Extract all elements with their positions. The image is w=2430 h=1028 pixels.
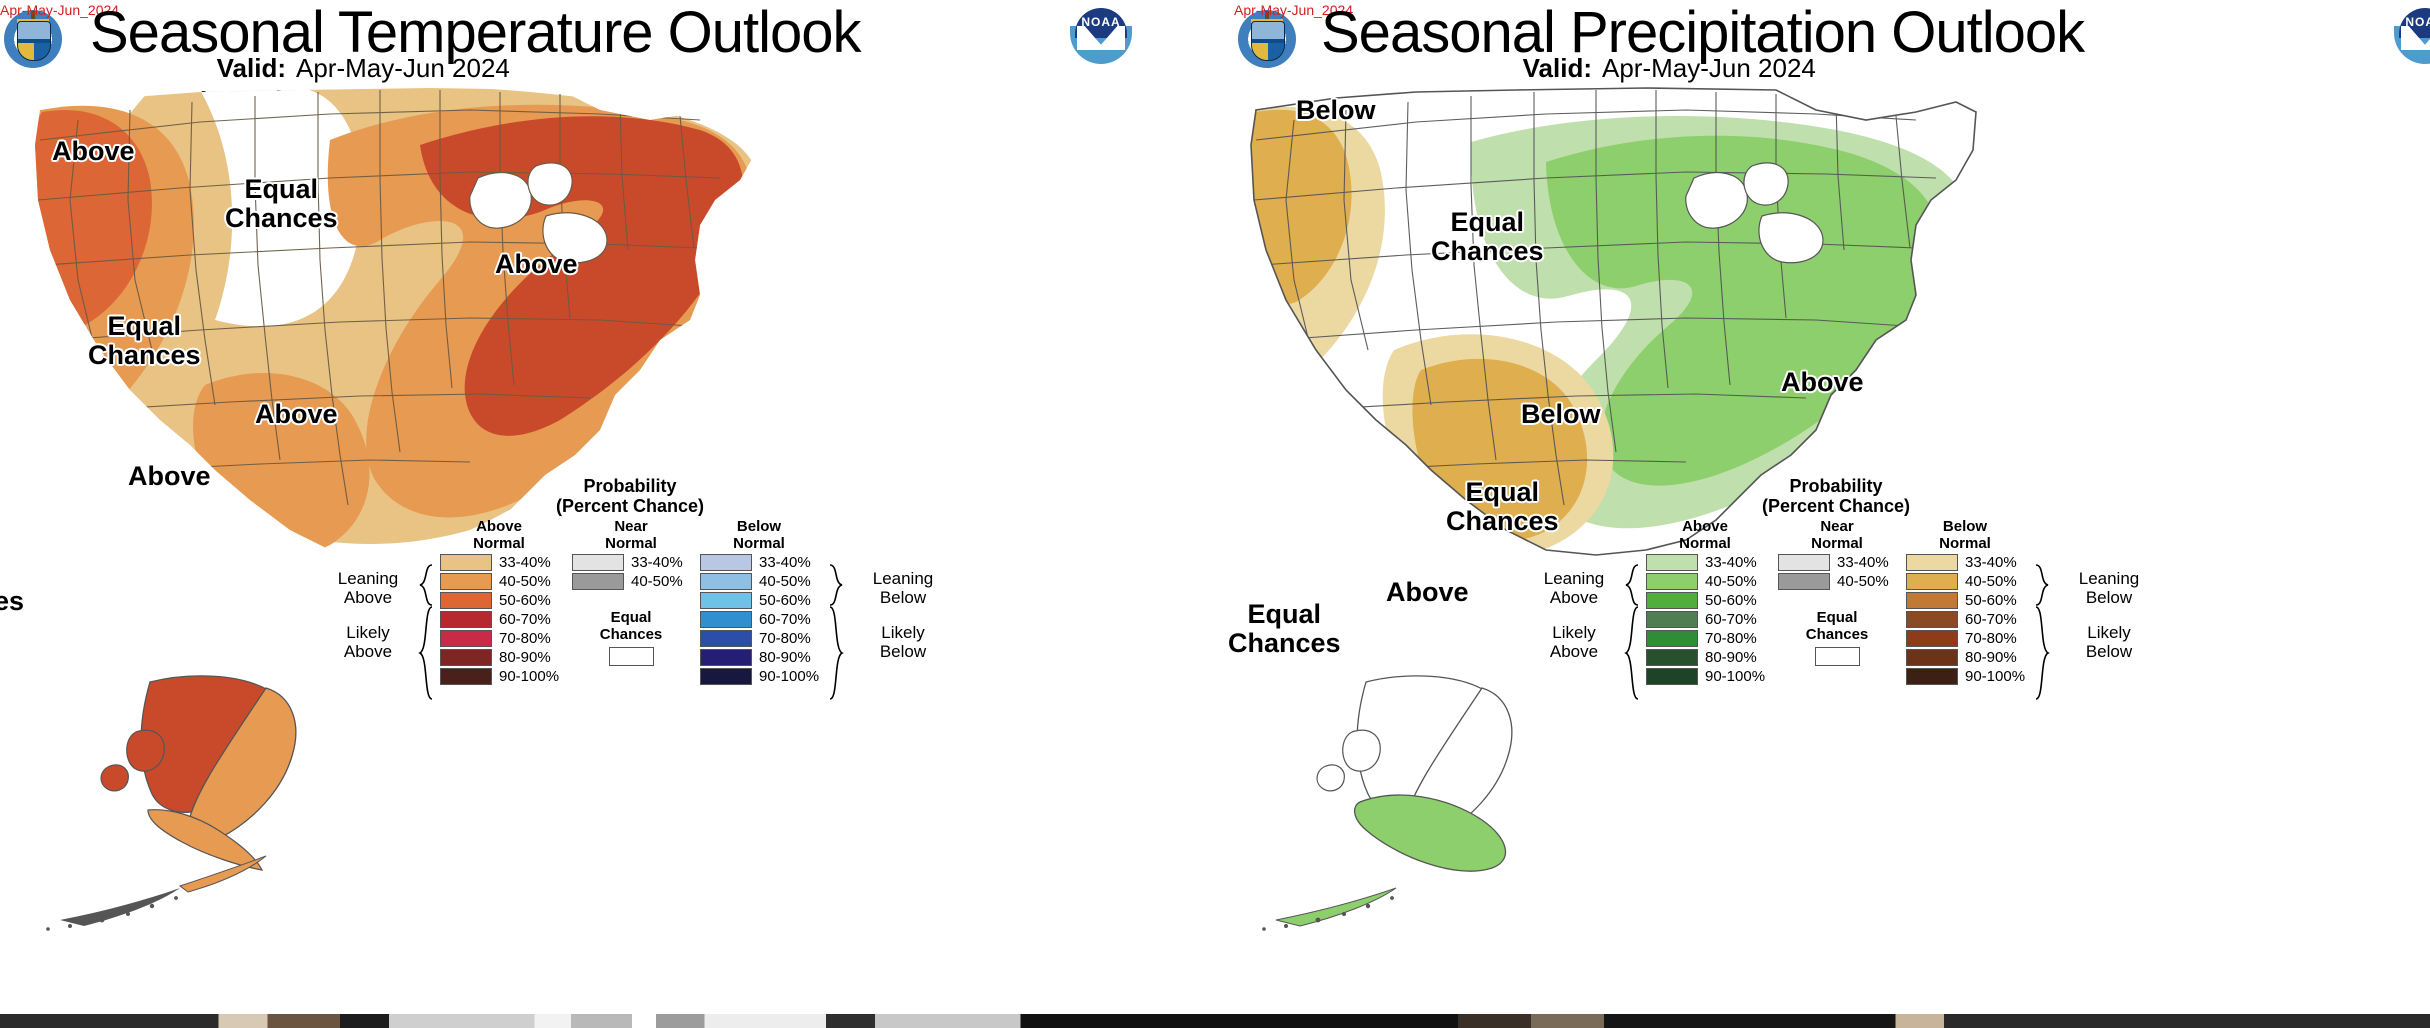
legend-entry[interactable]: 33-40% [1646, 553, 1764, 572]
legend-entry-label: 80-90% [752, 649, 811, 666]
brace-leaning-below-icon [828, 563, 844, 607]
legend-entry-label: 50-60% [492, 592, 551, 609]
legend-entry[interactable]: 40-50% [440, 572, 558, 591]
swatch [572, 573, 624, 590]
legend-entry[interactable]: 70-80% [1646, 629, 1764, 648]
legend-entry[interactable]: 40-50% [700, 572, 818, 591]
legend-entry[interactable]: 90-100% [700, 667, 818, 686]
legend-entry-label: 50-60% [1958, 592, 2017, 609]
swatch [440, 668, 492, 685]
swatch-equal-chances [609, 647, 654, 666]
legend-group-likely-below: Likely Below [2054, 623, 2164, 661]
map-label-above-alaska: Above [128, 462, 211, 491]
legend-entry-label: 33-40% [624, 554, 683, 571]
swatch [1646, 668, 1698, 685]
legend-entry-label: 50-60% [752, 592, 811, 609]
swatch [1906, 573, 1958, 590]
legend-col-header-below-normal: Below Normal [1906, 519, 2024, 553]
legend-entry[interactable]: 70-80% [1906, 629, 2024, 648]
swatch [700, 611, 752, 628]
legend-col-header-near-normal: Near Normal [572, 519, 690, 553]
legend-entry-label: 70-80% [1698, 630, 1757, 647]
legend-entry[interactable]: 33-40% [440, 553, 558, 572]
map-label-above-pnw: Above [52, 137, 135, 166]
legend-entry[interactable]: 33-40% [572, 553, 690, 572]
legend-entry-label: 70-80% [1958, 630, 2017, 647]
legend-entry-label: 90-100% [1958, 668, 2025, 685]
swatch [700, 554, 752, 571]
swatch [1906, 592, 1958, 609]
swatch [700, 592, 752, 609]
legend-equal-chances-label: Equal Chances [1778, 610, 1896, 643]
map-label-above-alaska: Above [1386, 578, 1469, 607]
map-label-below-southern-plains: Below [1521, 400, 1601, 429]
filmstrip-thumbnail-bar[interactable] [0, 1014, 2430, 1028]
map-label-clipped: es [0, 586, 24, 617]
legend-entry-label: 80-90% [492, 649, 551, 666]
legend-entry[interactable]: 80-90% [1906, 648, 2024, 667]
legend-group-leaning-above: Leaning Above [1528, 569, 1620, 607]
brace-likely-above-icon [418, 605, 434, 701]
legend-equal-chances[interactable]: Equal Chances [1778, 610, 1896, 666]
legend-entry[interactable]: 70-80% [440, 629, 558, 648]
map-label-below-pnw: Below [1296, 96, 1376, 125]
legend-entry-label: 40-50% [492, 573, 551, 590]
legend-group-leaning-below: Leaning Below [848, 569, 958, 607]
legend-entry[interactable]: 90-100% [1906, 667, 2024, 686]
legend-col-header-above-normal: Above Normal [1646, 519, 1764, 553]
legend-col-header-below-normal: Below Normal [700, 519, 818, 553]
swatch [1646, 554, 1698, 571]
precipitation-legend: Probability (Percent Chance) Leaning Abo… [1506, 476, 2206, 699]
swatch-equal-chances [1815, 647, 1860, 666]
temperature-outlook-panel: Apr-May-Jun_2024 NOAA Seasonal Temperatu… [0, 0, 1214, 1014]
legend-entry[interactable]: 60-70% [700, 610, 818, 629]
swatch [1906, 630, 1958, 647]
swatch [1906, 649, 1958, 666]
brace-likely-below-icon [2034, 605, 2050, 701]
swatch [700, 630, 752, 647]
legend-entry-label: 33-40% [1958, 554, 2017, 571]
legend-entry[interactable]: 33-40% [1906, 553, 2024, 572]
map-label-above-southeast: Above [1781, 368, 1864, 397]
map-label-equal-chances-southwest: Equal Chances [88, 312, 201, 369]
legend-entry[interactable]: 40-50% [1906, 572, 2024, 591]
legend-entry-label: 40-50% [1958, 573, 2017, 590]
swatch [700, 649, 752, 666]
swatch [1646, 649, 1698, 666]
legend-group-likely-above: Likely Above [1528, 623, 1620, 661]
swatch [440, 554, 492, 571]
swatch [440, 649, 492, 666]
legend-group-likely-below: Likely Below [848, 623, 958, 661]
legend-equal-chances[interactable]: Equal Chances [572, 610, 690, 666]
legend-entry-label: 80-90% [1958, 649, 2017, 666]
brace-leaning-above-icon [1624, 563, 1640, 607]
legend-equal-chances-label: Equal Chances [572, 610, 690, 643]
legend-entry[interactable]: 60-70% [1906, 610, 2024, 629]
legend-entry[interactable]: 60-70% [440, 610, 558, 629]
swatch [1646, 592, 1698, 609]
swatch [440, 592, 492, 609]
map-label-equal-chances-alaska-west: Equal Chances [1228, 600, 1341, 657]
legend-entry[interactable]: 90-100% [440, 667, 558, 686]
map-label-equal-chances-north: Equal Chances [225, 175, 338, 232]
legend-entry-label: 33-40% [1830, 554, 1889, 571]
swatch [440, 611, 492, 628]
map-label-above-southern-plains: Above [255, 400, 338, 429]
swatch [572, 554, 624, 571]
legend-title: Probability (Percent Chance) [470, 476, 790, 516]
temperature-legend: Probability (Percent Chance) Leaning Abo… [300, 476, 1000, 699]
legend-entry-label: 33-40% [492, 554, 551, 571]
swatch [440, 573, 492, 590]
swatch [1906, 668, 1958, 685]
legend-entry[interactable]: 50-60% [1906, 591, 2024, 610]
legend-title: Probability (Percent Chance) [1676, 476, 1996, 516]
brace-leaning-above-icon [418, 563, 434, 607]
swatch [1778, 554, 1830, 571]
legend-entry[interactable]: 80-90% [1646, 648, 1764, 667]
legend-entry[interactable]: 80-90% [440, 648, 558, 667]
legend-entry-label: 80-90% [1698, 649, 1757, 666]
swatch [1906, 611, 1958, 628]
legend-group-leaning-above: Leaning Above [322, 569, 414, 607]
legend-entry-label: 60-70% [492, 611, 551, 628]
swatch [700, 668, 752, 685]
legend-entry-label: 70-80% [492, 630, 551, 647]
legend-group-likely-above: Likely Above [322, 623, 414, 661]
legend-group-leaning-below: Leaning Below [2054, 569, 2164, 607]
swatch [440, 630, 492, 647]
legend-entry-label: 90-100% [1698, 668, 1765, 685]
brace-likely-below-icon [828, 605, 844, 701]
legend-entry-label: 60-70% [1698, 611, 1757, 628]
legend-entry-label: 33-40% [752, 554, 811, 571]
legend-col-header-near-normal: Near Normal [1778, 519, 1896, 553]
legend-entry-label: 60-70% [752, 611, 811, 628]
precipitation-outlook-panel: Apr-May-Jun_2024 NOAA Seasonal Precipita… [1216, 0, 2430, 1014]
swatch [1646, 630, 1698, 647]
legend-entry-label: 70-80% [752, 630, 811, 647]
legend-entry-label: 90-100% [492, 668, 559, 685]
legend-entry[interactable]: 50-60% [700, 591, 818, 610]
legend-entry[interactable]: 40-50% [1646, 572, 1764, 591]
legend-entry[interactable]: 90-100% [1646, 667, 1764, 686]
brace-leaning-below-icon [2034, 563, 2050, 607]
legend-entry[interactable]: 70-80% [700, 629, 818, 648]
legend-entry[interactable]: 80-90% [700, 648, 818, 667]
legend-entry-label: 50-60% [1698, 592, 1757, 609]
swatch [1646, 573, 1698, 590]
legend-entry-label: 33-40% [1698, 554, 1757, 571]
swatch [700, 573, 752, 590]
legend-entry-label: 40-50% [1830, 573, 1889, 590]
legend-entry-label: 40-50% [624, 573, 683, 590]
legend-entry[interactable]: 33-40% [700, 553, 818, 572]
map-label-above-east: Above [495, 250, 578, 279]
legend-entry-label: 40-50% [752, 573, 811, 590]
legend-entry[interactable]: 40-50% [572, 572, 690, 591]
legend-entry-label: 40-50% [1698, 573, 1757, 590]
swatch [1646, 611, 1698, 628]
legend-entry-label: 90-100% [752, 668, 819, 685]
legend-entry-label: 60-70% [1958, 611, 2017, 628]
legend-entry[interactable]: 50-60% [440, 591, 558, 610]
swatch [1906, 554, 1958, 571]
swatch [1778, 573, 1830, 590]
legend-entry[interactable]: 50-60% [1646, 591, 1764, 610]
legend-entry[interactable]: 60-70% [1646, 610, 1764, 629]
map-label-equal-chances-north: Equal Chances [1431, 208, 1544, 265]
brace-likely-above-icon [1624, 605, 1640, 701]
legend-col-header-above-normal: Above Normal [440, 519, 558, 553]
legend-entry[interactable]: 40-50% [1778, 572, 1896, 591]
outlook-sheet: Apr-May-Jun_2024 NOAA Seasonal Temperatu… [0, 0, 2430, 1028]
legend-entry[interactable]: 33-40% [1778, 553, 1896, 572]
